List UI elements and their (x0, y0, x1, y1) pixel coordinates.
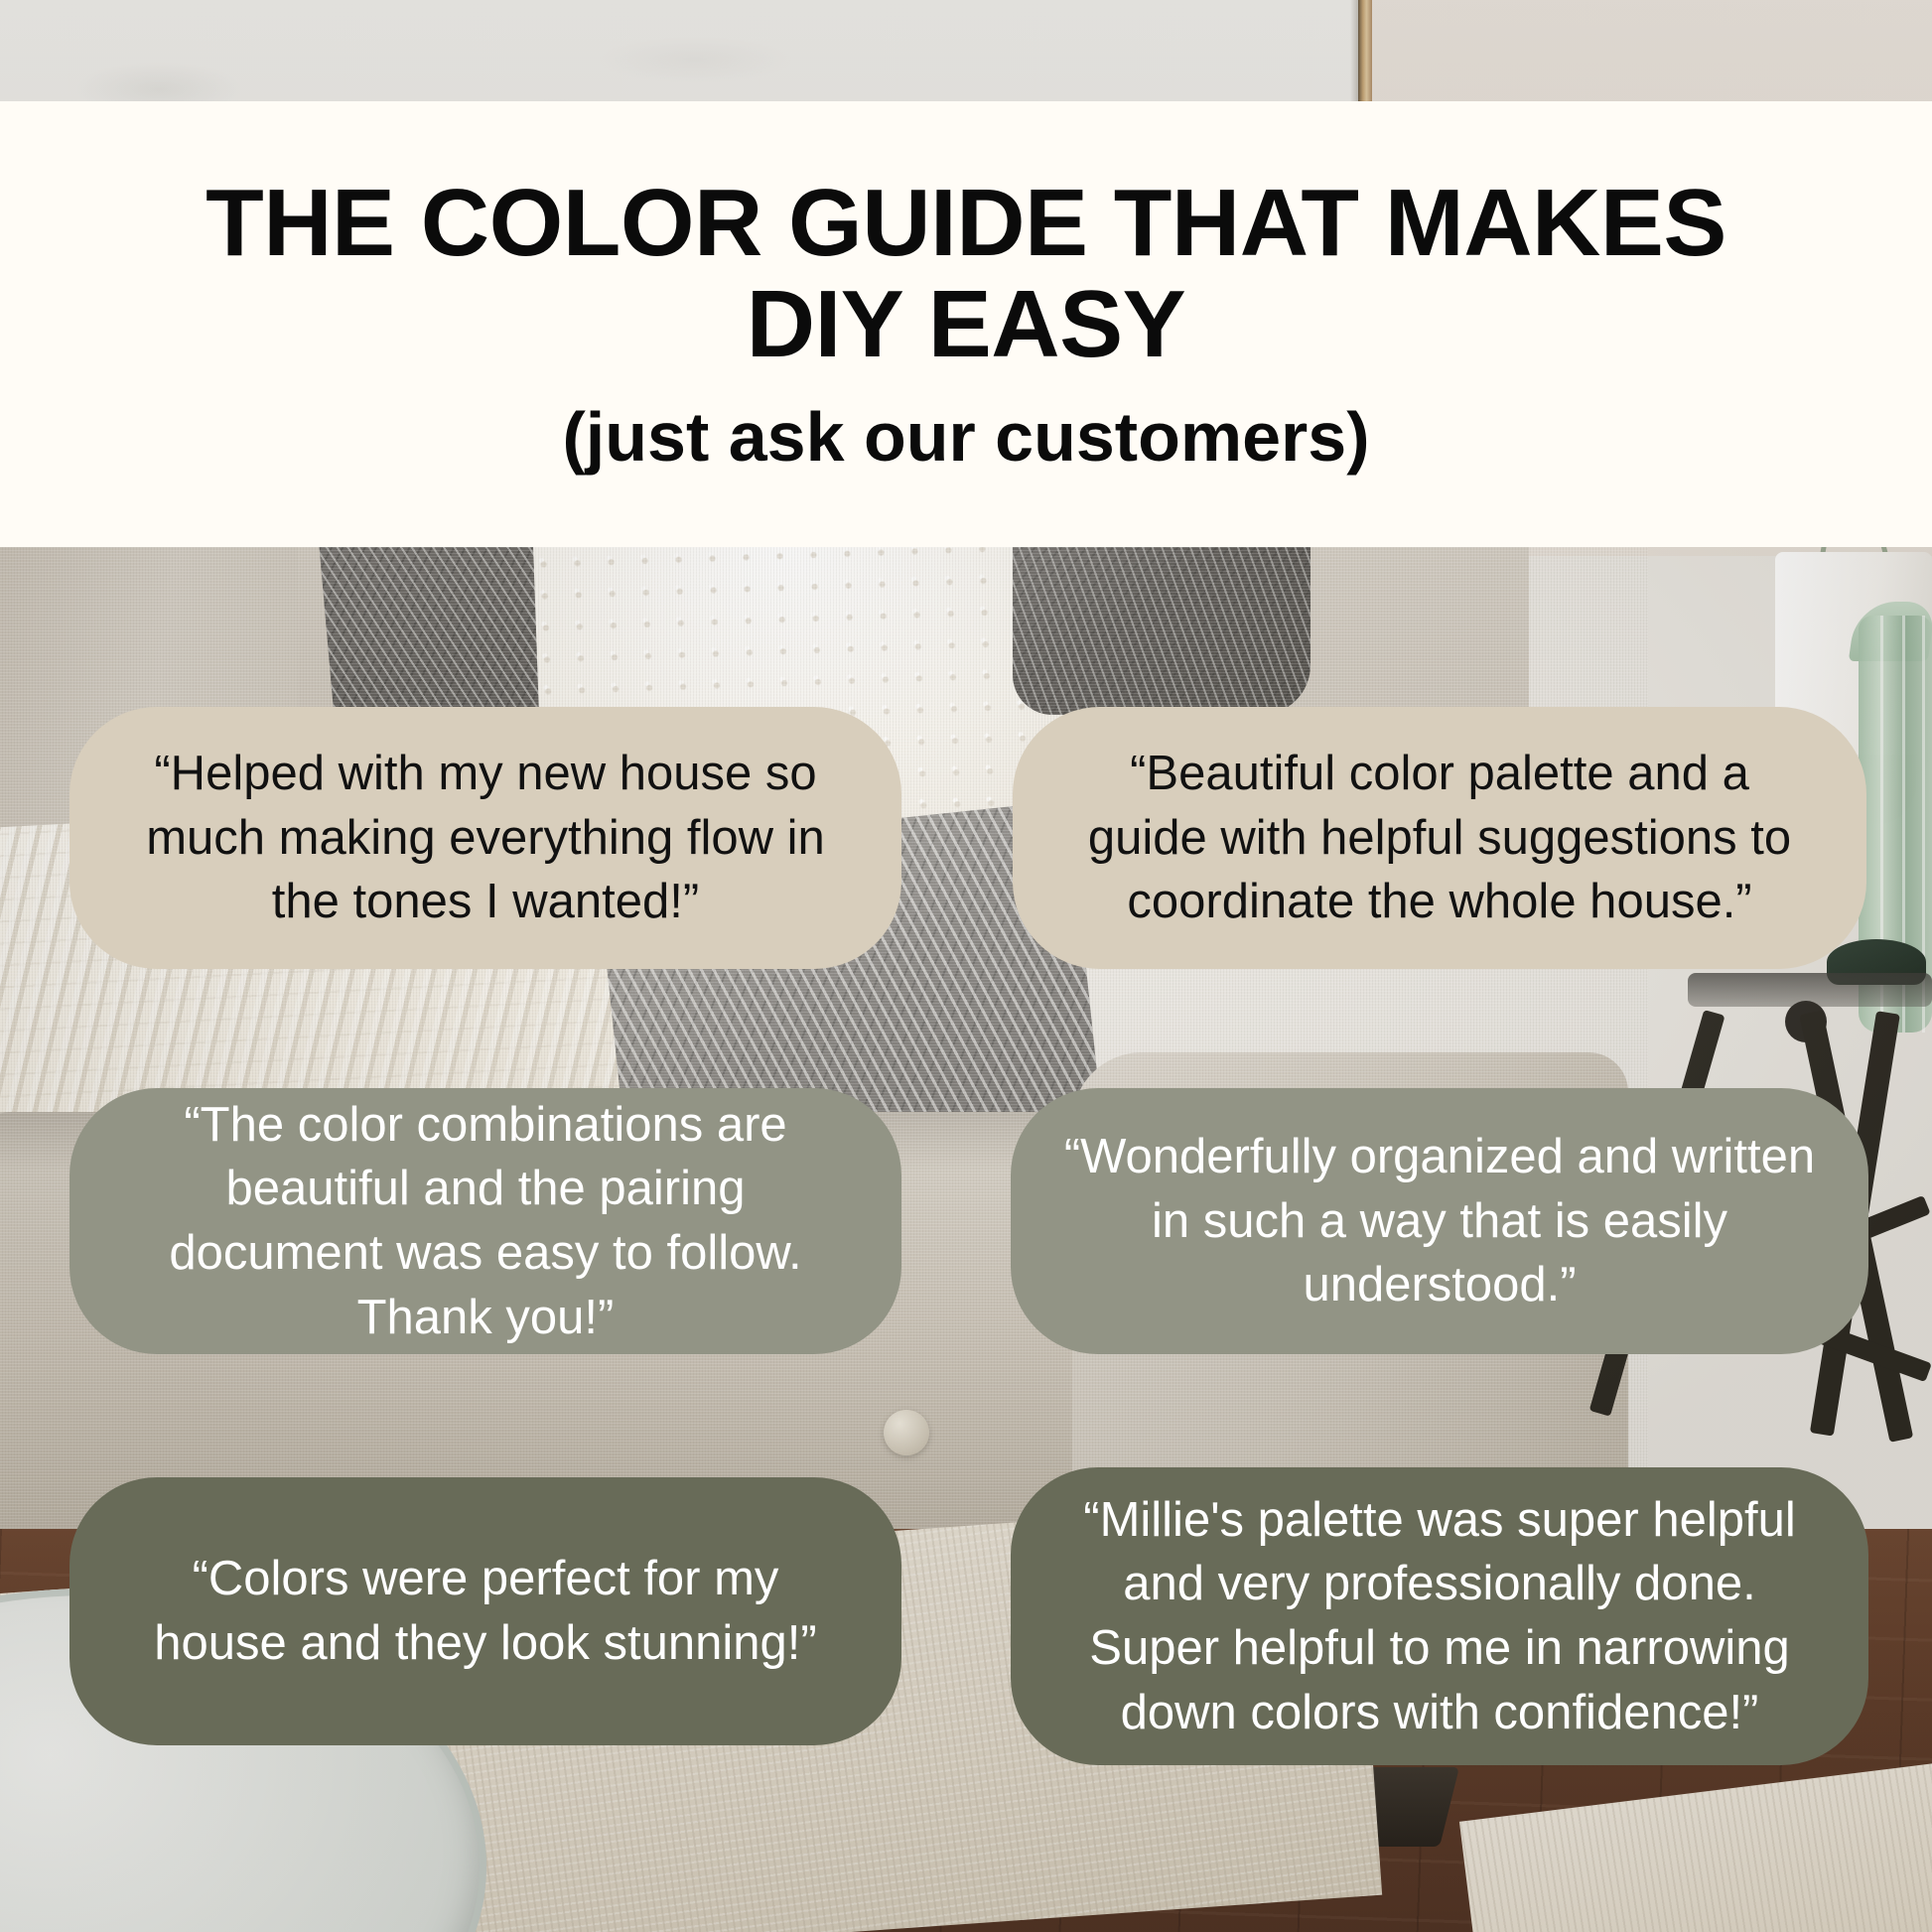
testimonial-text: “The color combinations are beautiful an… (113, 1093, 858, 1350)
testimonial-text: “Wonderfully organized and written in su… (1054, 1125, 1825, 1317)
testimonial-card: “Wonderfully organized and written in su… (1011, 1088, 1868, 1354)
testimonial-text: “Helped with my new house so much making… (115, 742, 856, 934)
promo-poster: THE COLOR GUIDE THAT MAKES DIY EASY (jus… (0, 0, 1932, 1932)
testimonial-text: “Colors were perfect for my house and th… (123, 1547, 848, 1675)
testimonial-card: “Beautiful color palette and a guide wit… (1013, 707, 1866, 969)
testimonial-card: “Millie's palette was super helpful and … (1011, 1467, 1868, 1765)
testimonial-card: “Colors were perfect for my house and th… (69, 1477, 901, 1745)
testimonial-text: “Millie's palette was super helpful and … (1056, 1488, 1823, 1745)
testimonial-text: “Beautiful color palette and a guide wit… (1064, 742, 1815, 934)
testimonial-card: “The color combinations are beautiful an… (69, 1088, 901, 1354)
testimonial-card: “Helped with my new house so much making… (69, 707, 901, 969)
testimonial-grid: “Helped with my new house so much making… (0, 0, 1932, 1932)
